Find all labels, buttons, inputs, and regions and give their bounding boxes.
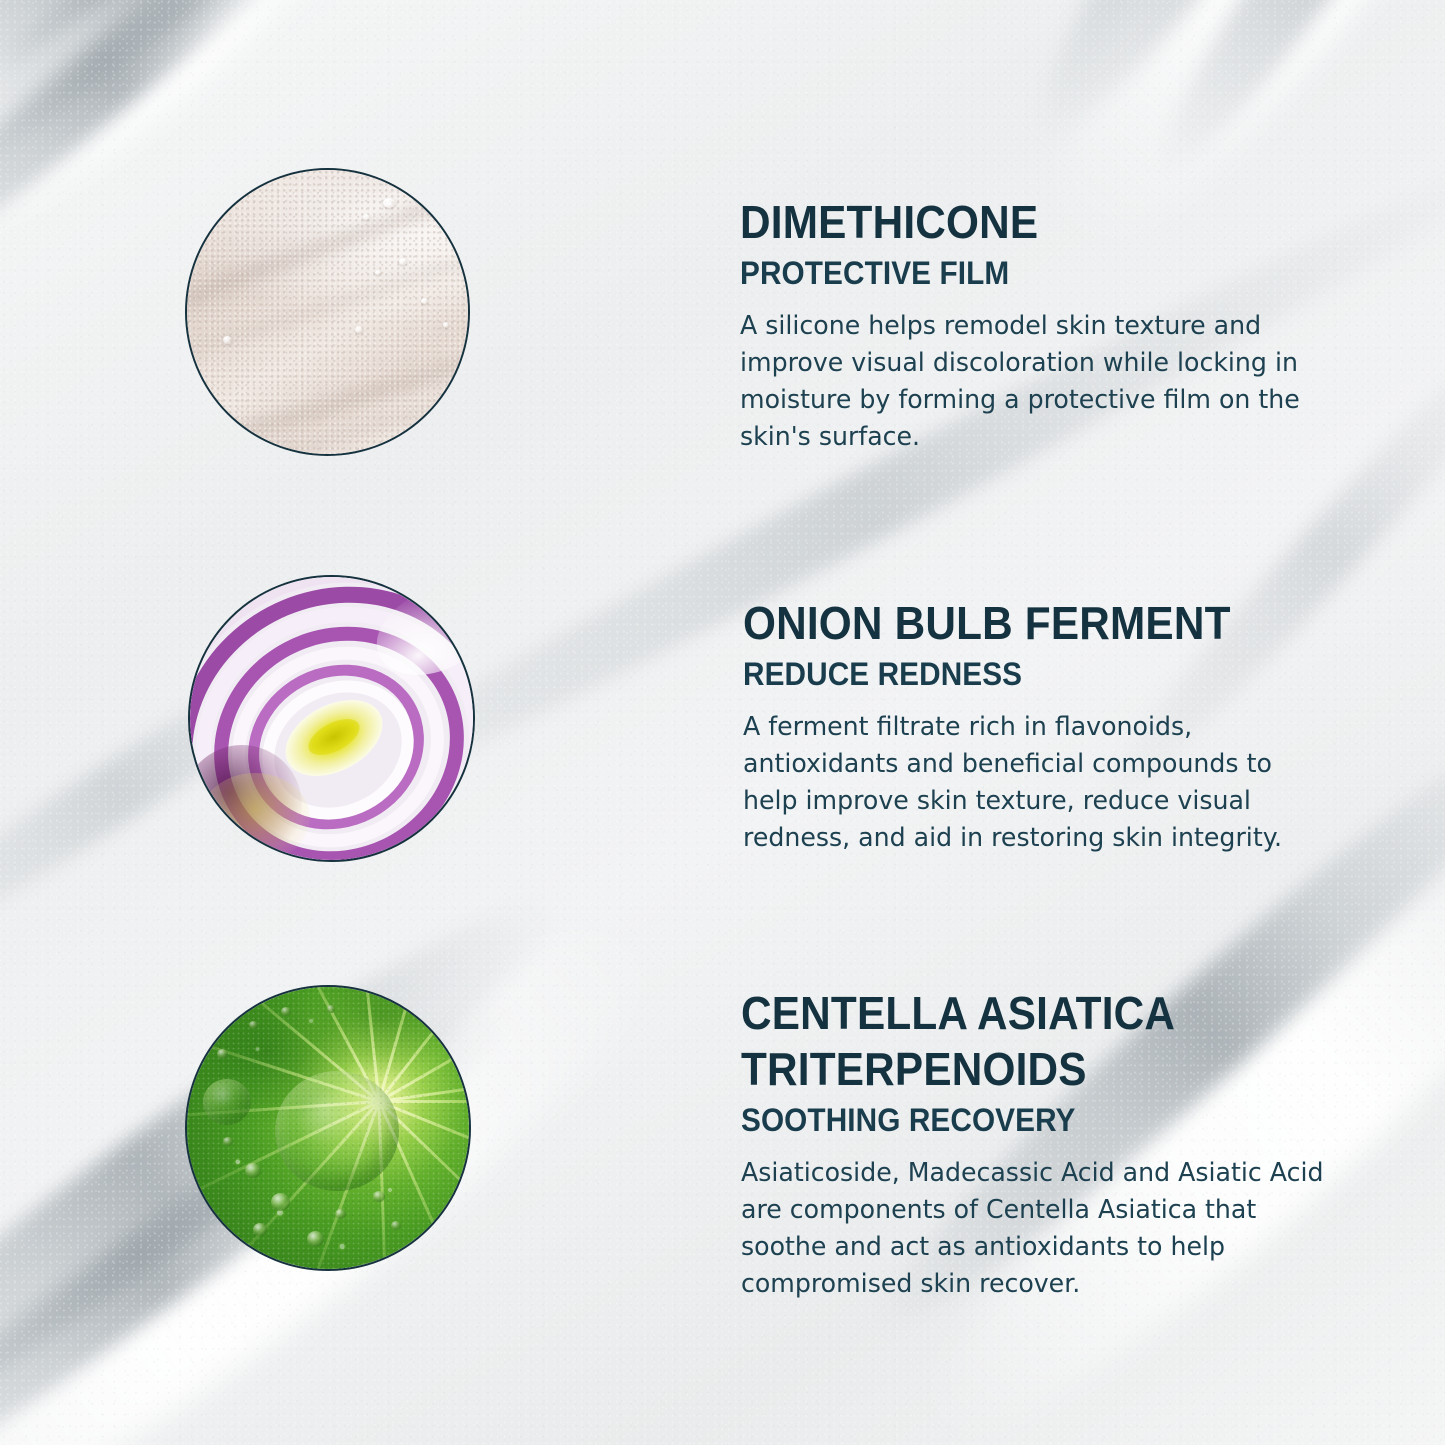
ingredient-subtitle: REDUCE REDNESS <box>743 655 1306 693</box>
ingredient-text-centella: CENTELLA ASIATICA TRITERPENOIDS SOOTHING… <box>741 985 1345 1303</box>
red-onion-photo <box>190 577 473 860</box>
ingredient-title: CENTELLA ASIATICA TRITERPENOIDS <box>741 985 1297 1097</box>
ingredient-description: Asiaticoside, Madecassic Acid and Asiati… <box>741 1155 1327 1303</box>
ingredient-infographic: DIMETHICONE PROTECTIVE FILM A silicone h… <box>0 0 1445 1445</box>
ingredient-row-onion: ONION BULB FERMENT REDUCE REDNESS A ferm… <box>188 575 1348 862</box>
ingredient-title: DIMETHICONE <box>740 194 1297 250</box>
green-leaf-photo <box>187 987 469 1269</box>
ingredient-row-dimethicone: DIMETHICONE PROTECTIVE FILM A silicone h… <box>185 168 1345 456</box>
ingredient-title: ONION BULB FERMENT <box>743 595 1300 651</box>
ingredient-description: A silicone helps remodel skin texture an… <box>740 308 1327 456</box>
ingredient-image-onion <box>188 575 475 862</box>
silicone-texture-photo <box>187 170 468 454</box>
ingredient-image-leaf <box>185 985 471 1271</box>
ingredient-image-silicone <box>185 168 470 456</box>
ingredient-subtitle: PROTECTIVE FILM <box>740 254 1303 292</box>
ingredient-text-onion: ONION BULB FERMENT REDUCE REDNESS A ferm… <box>743 575 1348 857</box>
ingredient-description: A ferment filtrate rich in flavonoids, a… <box>743 709 1330 857</box>
ingredient-text-dimethicone: DIMETHICONE PROTECTIVE FILM A silicone h… <box>740 168 1345 456</box>
ingredient-subtitle: SOOTHING RECOVERY <box>741 1101 1303 1139</box>
ingredient-row-centella: CENTELLA ASIATICA TRITERPENOIDS SOOTHING… <box>185 985 1345 1303</box>
